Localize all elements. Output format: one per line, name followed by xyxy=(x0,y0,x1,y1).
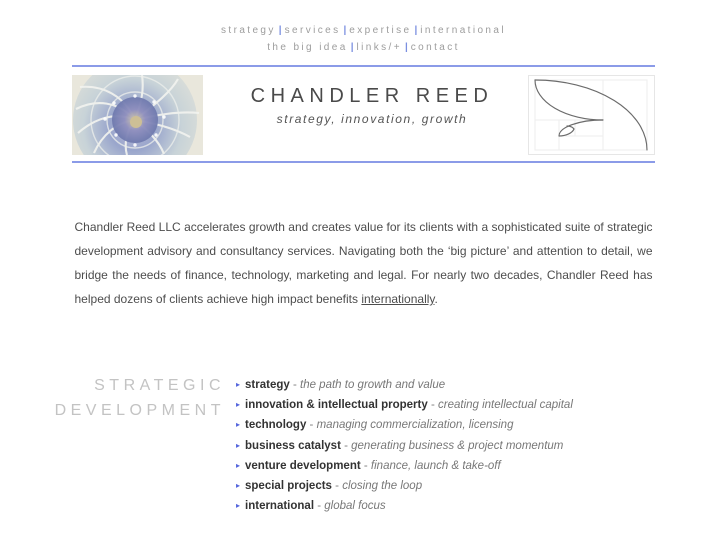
site-header-banner: CHANDLER REED strategy, innovation, grow… xyxy=(72,75,655,155)
triangle-bullet-icon: ▸ xyxy=(236,400,240,409)
intro-text-part2: . xyxy=(435,292,438,306)
service-description: finance, launch & take-off xyxy=(371,460,501,472)
list-item[interactable]: ▸special projects - closing the loop xyxy=(236,476,573,496)
nav-separator: | xyxy=(411,25,420,36)
triangle-bullet-icon: ▸ xyxy=(236,420,240,429)
service-term: business catalyst xyxy=(245,440,341,452)
triangle-bullet-icon: ▸ xyxy=(236,380,240,389)
intro-paragraph: Chandler Reed LLC accelerates growth and… xyxy=(75,215,653,311)
nav-separator: | xyxy=(276,25,285,36)
list-item[interactable]: ▸international - global focus xyxy=(236,496,573,516)
service-list: ▸strategy - the path to growth and value… xyxy=(236,375,573,516)
triangle-bullet-icon: ▸ xyxy=(236,481,240,490)
page-title: CHANDLER REED xyxy=(222,83,522,109)
service-description: global focus xyxy=(324,500,385,512)
divider-top xyxy=(72,65,655,67)
service-term: international xyxy=(245,500,314,512)
nav-row-secondary: the big idea|links/+|contact xyxy=(0,39,727,56)
triangle-bullet-icon: ▸ xyxy=(236,461,240,470)
service-term: innovation & intellectual property xyxy=(245,399,428,411)
nav-item-services[interactable]: services xyxy=(285,25,341,36)
nav-item-links[interactable]: links/+ xyxy=(357,42,402,53)
nav-separator: | xyxy=(348,42,357,53)
service-term: venture development xyxy=(245,460,361,472)
triangle-bullet-icon: ▸ xyxy=(236,501,240,510)
triangle-bullet-icon: ▸ xyxy=(236,441,240,450)
section-heading-line2: DEVELOPMENT xyxy=(20,398,225,423)
service-dash: - xyxy=(361,460,371,472)
nav-separator: | xyxy=(340,25,349,36)
nav-item-strategy[interactable]: strategy xyxy=(221,25,276,36)
service-term: special projects xyxy=(245,480,332,492)
list-item[interactable]: ▸venture development - finance, launch &… xyxy=(236,456,573,476)
nav-item-the-big-idea[interactable]: the big idea xyxy=(267,42,348,53)
service-description: creating intellectual capital xyxy=(438,399,573,411)
golden-spiral-icon xyxy=(528,75,655,155)
service-description: closing the loop xyxy=(342,480,422,492)
service-dash: - xyxy=(332,480,342,492)
service-dash: - xyxy=(306,419,316,431)
nav-item-expertise[interactable]: expertise xyxy=(349,25,411,36)
section-heading-line1: STRATEGIC xyxy=(20,373,225,398)
service-dash: - xyxy=(428,399,438,411)
list-item[interactable]: ▸strategy - the path to growth and value xyxy=(236,375,573,395)
service-dash: - xyxy=(341,440,351,452)
nav-item-international[interactable]: international xyxy=(420,25,506,36)
list-item[interactable]: ▸business catalyst - generating business… xyxy=(236,436,573,456)
brand-tagline: strategy, innovation, growth xyxy=(222,109,522,129)
divider-header-bottom xyxy=(72,161,655,163)
nav-separator: | xyxy=(402,42,411,53)
list-item[interactable]: ▸technology - managing commercialization… xyxy=(236,415,573,435)
nav-item-contact[interactable]: contact xyxy=(411,42,460,53)
internationally-link[interactable]: internationally xyxy=(361,292,434,306)
service-term: technology xyxy=(245,419,306,431)
service-term: strategy xyxy=(245,379,290,391)
service-description: managing commercialization, licensing xyxy=(317,419,514,431)
service-dash: - xyxy=(314,500,324,512)
service-dash: - xyxy=(290,379,300,391)
service-description: generating business & project momentum xyxy=(351,440,563,452)
strategic-development-section: STRATEGIC DEVELOPMENT ▸strategy - the pa… xyxy=(0,373,727,523)
nav-row-primary: strategy|services|expertise|internationa… xyxy=(0,22,727,39)
service-description: the path to growth and value xyxy=(300,379,445,391)
list-item[interactable]: ▸innovation & intellectual property - cr… xyxy=(236,395,573,415)
top-navigation: strategy|services|expertise|internationa… xyxy=(0,0,727,56)
section-heading: STRATEGIC DEVELOPMENT xyxy=(20,373,225,423)
brand-block: CHANDLER REED strategy, innovation, grow… xyxy=(222,83,522,129)
nautilus-shell-image xyxy=(72,75,203,155)
